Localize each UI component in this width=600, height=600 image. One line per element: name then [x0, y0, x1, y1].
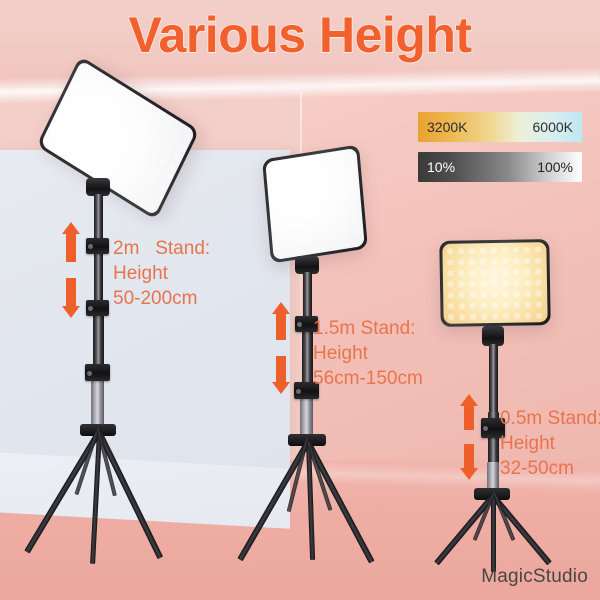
arrow-up-2m	[62, 222, 80, 262]
label-stand-2m: 2m Stand: Height 50-200cm	[113, 236, 210, 311]
lock-clamp-2m-lower[interactable]	[85, 364, 110, 381]
arrow-down-1_5m	[272, 356, 290, 394]
temp-min-label: 3200K	[427, 119, 467, 135]
label-stand-0_5m: 0.5m Stand: Height 32-50cm	[500, 406, 600, 481]
panel-led-grid	[267, 150, 362, 258]
led-panel-0_5m	[439, 239, 550, 327]
led-panel-1_5m	[262, 144, 368, 263]
lock-clamp-2m-middle[interactable]	[86, 300, 109, 316]
watermark: MagicStudio	[481, 566, 588, 588]
panel-led-grid	[444, 244, 545, 322]
brightness-bar: 10% 100%	[418, 152, 582, 182]
spec-bars: 3200K 6000K 10% 100%	[418, 112, 582, 182]
temp-max-label: 6000K	[533, 119, 573, 135]
ball-head-0_5m	[482, 326, 504, 346]
column-top-2m	[94, 194, 103, 314]
tripod-leg-0_5m-center	[491, 496, 496, 572]
arrow-down-2m	[62, 278, 80, 318]
arrow-up-0_5m	[460, 394, 478, 430]
label-stand-1_5m: 1.5m Stand: Height 56cm-150cm	[313, 316, 423, 391]
column-bottom-1_5m	[300, 392, 313, 440]
color-temperature-bar: 3200K 6000K	[418, 112, 582, 142]
arrow-up-1_5m	[272, 302, 290, 340]
page-title: Various Height	[0, 6, 600, 64]
arrow-down-0_5m	[460, 444, 478, 480]
brightness-max-label: 100%	[537, 159, 573, 175]
brightness-min-label: 10%	[427, 159, 455, 175]
product-image: Various Height 3200K 6000K 10% 100%	[0, 0, 600, 600]
lock-clamp-2m-upper[interactable]	[86, 238, 109, 254]
